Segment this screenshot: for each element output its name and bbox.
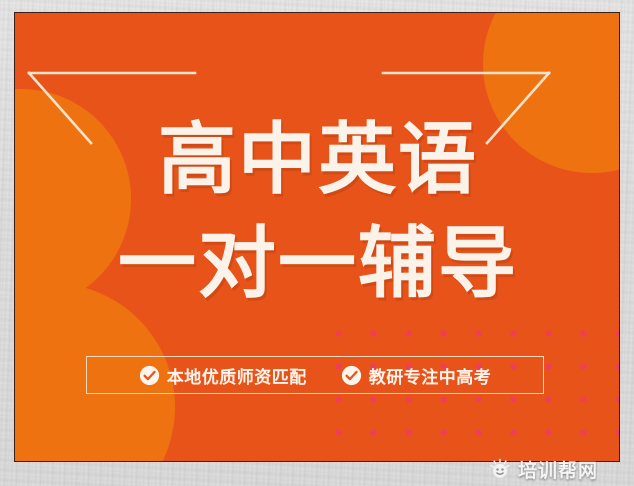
headline-line-2: 一对一辅导: [15, 225, 620, 303]
watermark: 培训帮网: [489, 455, 598, 483]
headline-block: 高中英语 一对一辅导: [15, 121, 620, 303]
feature-label-exam-focus: 教研专注中高考: [369, 363, 492, 388]
check-circle-icon: [139, 365, 160, 386]
feature-badge-bar: 本地优质师资匹配 教研专注中高考: [86, 356, 544, 394]
poster-page: 高中英语 一对一辅导 本地优质师资匹配 教研专注中高考: [0, 0, 634, 486]
poster-card: 高中英语 一对一辅导 本地优质师资匹配 教研专注中高考: [14, 12, 620, 462]
headline-line-1: 高中英语: [15, 121, 620, 199]
watermark-text: 培训帮网: [518, 456, 598, 483]
check-circle-icon: [341, 365, 362, 386]
feature-label-local-teachers: 本地优质师资匹配: [167, 363, 307, 388]
sun-face-icon: [489, 458, 511, 480]
feature-item-exam-focus: 教研专注中高考: [341, 363, 492, 388]
feature-item-local-teachers: 本地优质师资匹配: [139, 363, 307, 388]
